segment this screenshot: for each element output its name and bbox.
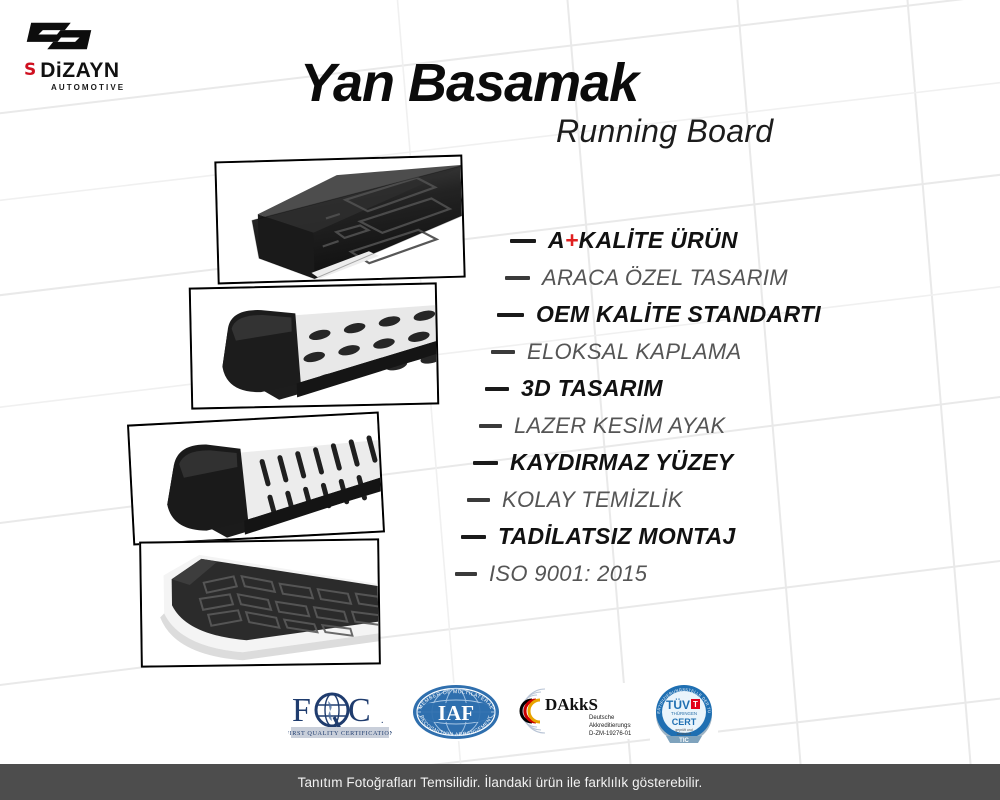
certification-badges: F C . FIRST QUALITY CERTIFICATION: [288, 680, 718, 748]
feature-label: 3D TASARIM: [521, 375, 663, 402]
feature-item: ELOKSAL KAPLAMA: [455, 333, 925, 370]
brand-logo: S DiZAYN AUTOMOTIVE: [22, 14, 172, 92]
feature-label: KAYDIRMAZ YÜZEY: [510, 449, 733, 476]
s-monogram-icon: [22, 14, 96, 58]
feature-label: LAZER KESİM AYAK: [514, 413, 725, 439]
bullet-dash-icon: [485, 387, 509, 391]
bullet-dash-icon: [497, 313, 524, 317]
product-photo-3: [127, 411, 385, 545]
feature-list: A+KALİTE ÜRÜN ARACA ÖZEL TASARIM OEM KAL…: [455, 222, 925, 592]
bullet-dash-icon: [491, 350, 515, 354]
feature-item: KAYDIRMAZ YÜZEY: [455, 444, 925, 481]
product-photo-1: [214, 155, 465, 285]
bullet-dash-icon: [505, 276, 530, 280]
svg-text:Deutsche: Deutsche: [589, 715, 615, 721]
svg-text:THÜRINGEN: THÜRINGEN: [671, 711, 697, 716]
feature-item: A+KALİTE ÜRÜN: [455, 222, 925, 259]
logo-mark-letter: S: [24, 62, 35, 79]
svg-text:CERT: CERT: [672, 717, 697, 727]
feature-label: OEM KALİTE STANDARTI: [536, 301, 821, 328]
svg-text:C: C: [348, 692, 371, 729]
svg-text:zertifiziert: zertifiziert: [677, 732, 692, 736]
svg-text:FIRST QUALITY CERTIFICATION: FIRST QUALITY CERTIFICATION: [288, 730, 392, 737]
tuv-badge: ZERTIFIZIERUNGSSTELLE DER TÜV TÜV T THÜR…: [650, 683, 718, 745]
feature-label: KOLAY TEMİZLİK: [502, 487, 683, 513]
feature-item: 3D TASARIM: [455, 370, 925, 407]
product-photo-2: [189, 282, 440, 409]
svg-text:F: F: [292, 692, 311, 729]
fqc-badge: F C . FIRST QUALITY CERTIFICATION: [288, 683, 392, 745]
logo-tagline: AUTOMOTIVE: [51, 83, 172, 92]
svg-text:T: T: [693, 700, 698, 709]
bullet-dash-icon: [479, 424, 502, 428]
svg-text:Akkreditierungsstelle: Akkreditierungsstelle: [589, 723, 631, 729]
footer-bar: Tanıtım Fotoğrafları Temsilidir. İlandak…: [0, 764, 1000, 800]
feature-label: ISO 9001: 2015: [489, 561, 647, 587]
feature-label: TADİLATSIZ MONTAJ: [498, 523, 736, 550]
plus-accent: +: [565, 227, 579, 253]
bullet-dash-icon: [455, 572, 477, 576]
svg-text:DAkkS: DAkkS: [545, 695, 598, 714]
bullet-dash-icon: [467, 498, 490, 502]
feature-label: A+KALİTE ÜRÜN: [548, 227, 738, 254]
feature-item: TADİLATSIZ MONTAJ: [455, 518, 925, 555]
feature-item: KOLAY TEMİZLİK: [455, 481, 925, 518]
svg-text:.: .: [381, 715, 384, 726]
svg-text:IAF: IAF: [438, 701, 474, 725]
svg-text:TIC: TIC: [679, 738, 689, 744]
feature-label: ELOKSAL KAPLAMA: [527, 339, 741, 365]
poster-canvas: S DiZAYN AUTOMOTIVE Yan Basamak Running …: [0, 0, 1000, 800]
logo-brand-name: DiZAYN: [40, 60, 119, 81]
dakks-badge: DAkkS Deutsche Akkreditierungsstelle D-Z…: [519, 683, 631, 745]
bullet-dash-icon: [461, 535, 486, 539]
iaf-badge: IAF MEMBER OF MULTILATERAL RECOGNITION A…: [411, 683, 501, 745]
bullet-dash-icon: [473, 461, 498, 465]
feature-item: ARACA ÖZEL TASARIM: [455, 259, 925, 296]
svg-text:TÜV: TÜV: [666, 697, 690, 712]
page-subtitle: Running Board: [556, 113, 773, 150]
feature-item: ISO 9001: 2015: [455, 555, 925, 592]
footer-disclaimer: Tanıtım Fotoğrafları Temsilidir. İlandak…: [298, 775, 703, 790]
bullet-dash-icon: [510, 239, 536, 243]
page-title: Yan Basamak: [300, 52, 720, 114]
feature-item: LAZER KESİM AYAK: [455, 407, 925, 444]
feature-item: OEM KALİTE STANDARTI: [455, 296, 925, 333]
product-photo-4: [139, 538, 381, 667]
svg-text:D-ZM-19276-01-00: D-ZM-19276-01-00: [589, 731, 631, 737]
feature-label: ARACA ÖZEL TASARIM: [542, 265, 788, 291]
